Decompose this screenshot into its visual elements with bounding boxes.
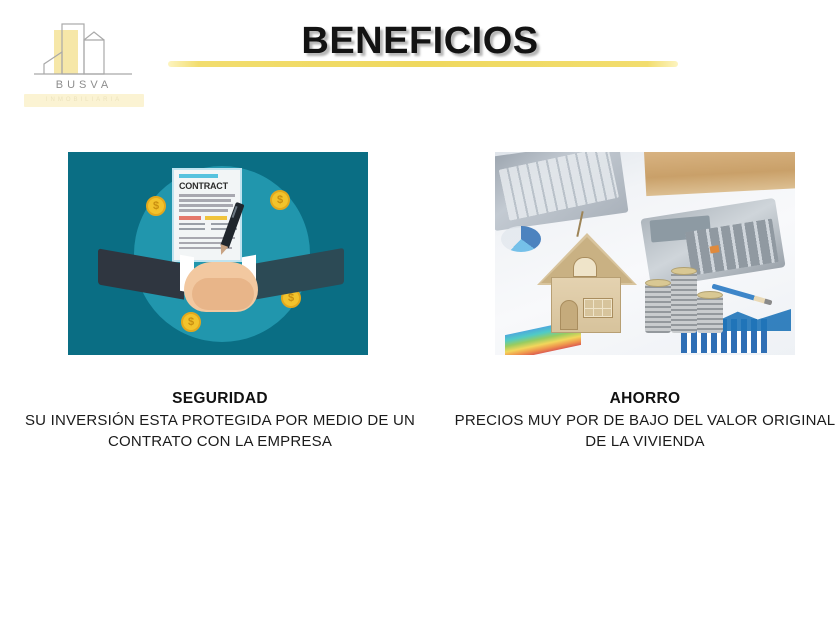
laptop-keyboard — [499, 152, 619, 221]
coin-icon: $ — [146, 196, 166, 216]
calculator-accent-key — [710, 245, 720, 253]
title-underline-rule — [168, 61, 678, 67]
contract-document-title: CONTRACT — [179, 181, 235, 191]
handshake-fingers — [192, 278, 254, 310]
page-title: BENEFICIOS — [0, 20, 840, 63]
house-body — [551, 277, 621, 333]
logo-wordmark: BUSVA — [24, 79, 144, 91]
coin-icon: $ — [181, 312, 201, 332]
handshake-contract-illustration: $ $ $ $ CONTRACT — [68, 152, 368, 355]
benefit-caption-ahorro: AHORRO PRECIOS MUY POR DE BAJO DEL VALOR… — [445, 388, 840, 453]
benefit-column-ahorro — [495, 152, 795, 355]
coin-icon: $ — [270, 190, 290, 210]
slide: BUSVA INMOBILIARIA BENEFICIOS $ $ $ $ CO… — [0, 0, 840, 630]
coin-stack — [645, 283, 671, 333]
model-house — [539, 221, 635, 333]
benefit-heading: AHORRO — [445, 388, 840, 409]
logo-tagline: INMOBILIARIA — [24, 94, 144, 107]
coin-stack — [671, 271, 697, 333]
house-attic-window — [573, 257, 597, 277]
wood-panel — [644, 152, 795, 196]
calculator — [640, 198, 785, 288]
benefit-heading: SEGURIDAD — [20, 388, 420, 409]
house-window — [583, 298, 613, 318]
pie-chart-graphic — [501, 226, 541, 252]
benefit-body: PRECIOS MUY POR DE BAJO DEL VALOR ORIGIN… — [445, 411, 840, 452]
laptop — [495, 152, 628, 231]
benefit-caption-seguridad: SEGURIDAD SU INVERSIÓN ESTA PROTEGIDA PO… — [20, 388, 420, 453]
house-savings-photo — [495, 152, 795, 355]
benefit-body: SU INVERSIÓN ESTA PROTEGIDA POR MEDIO DE… — [20, 411, 420, 452]
coin-stack — [697, 295, 723, 333]
benefit-column-seguridad: $ $ $ $ CONTRACT — [68, 152, 368, 355]
house-door — [560, 300, 578, 330]
